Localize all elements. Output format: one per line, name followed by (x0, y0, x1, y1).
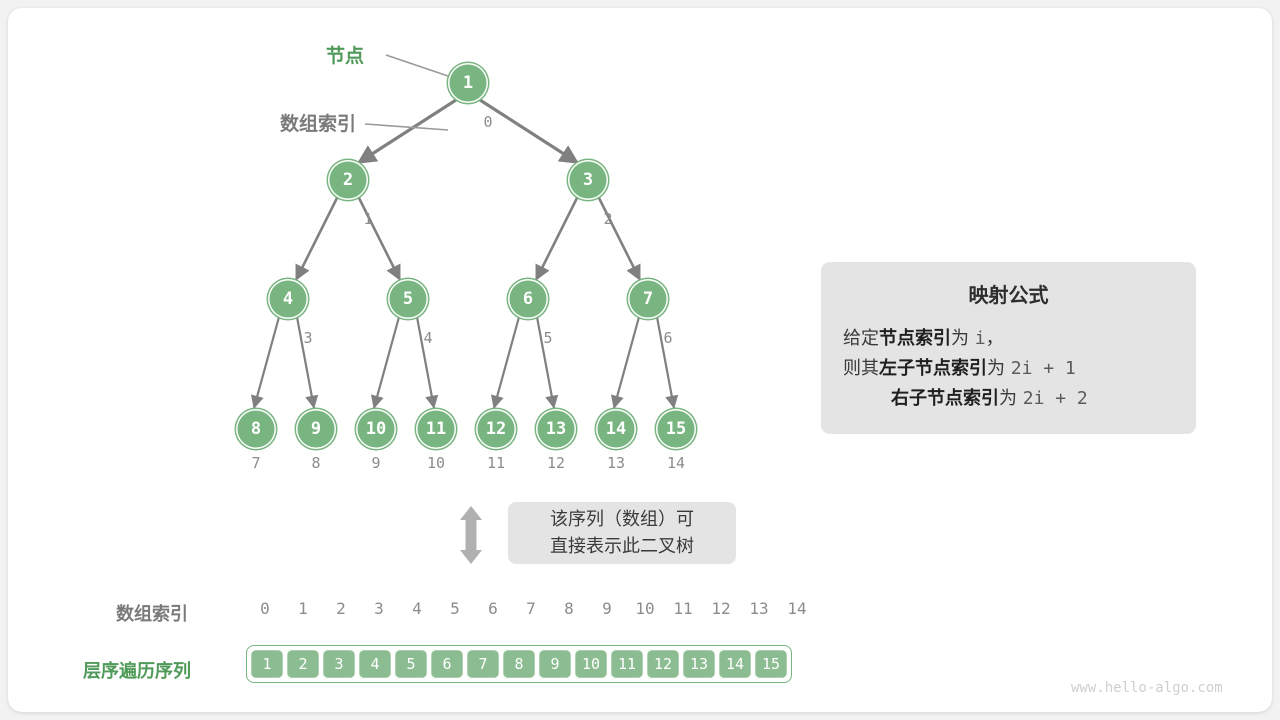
formula-l3-b: 右子节点索引 (891, 388, 999, 409)
tree-node-index-4: 4 (408, 329, 448, 347)
tree-node-14: 14 (596, 409, 636, 449)
array-index-3: 3 (360, 599, 398, 618)
tree-node-12: 12 (476, 409, 516, 449)
sequence-callout-box: 该序列（数组）可 直接表示此二叉树 (508, 502, 736, 564)
formula-l1-a: 给定 (843, 328, 879, 349)
tree-node-1: 1 (448, 63, 488, 103)
tree-node-index-13: 13 (596, 454, 636, 472)
formula-line-3: 右子节点索引为 2i + 2 (891, 384, 1088, 414)
tree-node-index-0: 0 (468, 113, 508, 131)
tree-node-index-9: 9 (356, 454, 396, 472)
formula-l2-c: 为 (987, 358, 1005, 379)
tree-node-2: 2 (328, 160, 368, 200)
array-index-13: 13 (740, 599, 778, 618)
formula-l2-expr: 2i + 1 (1011, 358, 1076, 379)
tree-node-index-11: 11 (476, 454, 516, 472)
array-cell[interactable]: 1 (250, 649, 284, 679)
level-order-array: 123456789101112131415 (246, 645, 792, 683)
array-index-0: 0 (246, 599, 284, 618)
mapping-formula-box: 映射公式 给定节点索引为 i， 则其左子节点索引为 2i + 1 右子节点索引为… (821, 262, 1196, 434)
tree-node-index-5: 5 (528, 329, 568, 347)
tree-node-5: 5 (388, 279, 428, 319)
annotation-array-index-label: 数组索引 (280, 109, 356, 136)
annotation-leader-lines (365, 55, 448, 130)
array-cell[interactable]: 4 (358, 649, 392, 679)
array-cell[interactable]: 3 (322, 649, 356, 679)
array-index-row: 01234567891011121314 (246, 599, 816, 618)
tree-node-7: 7 (628, 279, 668, 319)
tree-node-index-6: 6 (648, 329, 688, 347)
array-cell[interactable]: 2 (286, 649, 320, 679)
tree-node-10: 10 (356, 409, 396, 449)
array-cell[interactable]: 10 (574, 649, 608, 679)
array-index-2: 2 (322, 599, 360, 618)
array-index-1: 1 (284, 599, 322, 618)
vertical-double-arrow-icon (460, 506, 482, 564)
tree-node-index-2: 2 (588, 210, 628, 228)
array-cell[interactable]: 13 (682, 649, 716, 679)
array-cell[interactable]: 15 (754, 649, 788, 679)
array-cell[interactable]: 6 (430, 649, 464, 679)
array-cell[interactable]: 7 (466, 649, 500, 679)
formula-title: 映射公式 (969, 279, 1049, 308)
tree-node-15: 15 (656, 409, 696, 449)
array-index-8: 8 (550, 599, 588, 618)
array-index-5: 5 (436, 599, 474, 618)
tree-node-11: 11 (416, 409, 456, 449)
formula-l1-i: i (975, 328, 986, 349)
callout-line-1: 该序列（数组）可 (550, 506, 694, 533)
formula-l2-a: 则其 (843, 358, 879, 379)
formula-l1-c: 为 (951, 328, 969, 349)
formula-l3-c: 为 (999, 388, 1017, 409)
array-value-row-label: 层序遍历序列 (83, 657, 191, 683)
array-index-10: 10 (626, 599, 664, 618)
array-cell[interactable]: 8 (502, 649, 536, 679)
tree-node-index-14: 14 (656, 454, 696, 472)
tree-node-3: 3 (568, 160, 608, 200)
diagram-card: 节点 数组索引 10213243546576879810911101211131… (8, 8, 1272, 712)
tree-node-index-8: 8 (296, 454, 336, 472)
array-cell[interactable]: 5 (394, 649, 428, 679)
formula-l1-d: ， (986, 328, 1004, 349)
callout-line-2: 直接表示此二叉树 (550, 533, 694, 560)
array-index-12: 12 (702, 599, 740, 618)
array-index-6: 6 (474, 599, 512, 618)
tree-node-6: 6 (508, 279, 548, 319)
array-index-9: 9 (588, 599, 626, 618)
array-cell[interactable]: 9 (538, 649, 572, 679)
watermark: www.hello-algo.com (1071, 680, 1223, 696)
array-cell[interactable]: 14 (718, 649, 752, 679)
tree-node-index-3: 3 (288, 329, 328, 347)
tree-node-index-7: 7 (236, 454, 276, 472)
array-cell[interactable]: 12 (646, 649, 680, 679)
array-index-4: 4 (398, 599, 436, 618)
array-index-14: 14 (778, 599, 816, 618)
tree-node-index-1: 1 (348, 210, 388, 228)
tree-node-index-10: 10 (416, 454, 456, 472)
formula-l2-b: 左子节点索引 (879, 358, 987, 379)
formula-l3-expr: 2i + 2 (1023, 388, 1088, 409)
annotation-node-label: 节点 (326, 41, 364, 68)
edges-level-1 (358, 100, 578, 163)
formula-l1-b: 节点索引 (879, 328, 951, 349)
array-index-row-label: 数组索引 (116, 600, 188, 626)
array-index-11: 11 (664, 599, 702, 618)
diagram-stage: 节点 数组索引 10213243546576879810911101211131… (8, 8, 1272, 712)
tree-node-13: 13 (536, 409, 576, 449)
tree-node-4: 4 (268, 279, 308, 319)
tree-node-9: 9 (296, 409, 336, 449)
array-index-7: 7 (512, 599, 550, 618)
formula-line-2: 则其左子节点索引为 2i + 1 (843, 354, 1076, 384)
tree-node-8: 8 (236, 409, 276, 449)
formula-line-1: 给定节点索引为 i， (843, 324, 1004, 354)
array-cell[interactable]: 11 (610, 649, 644, 679)
tree-node-index-12: 12 (536, 454, 576, 472)
